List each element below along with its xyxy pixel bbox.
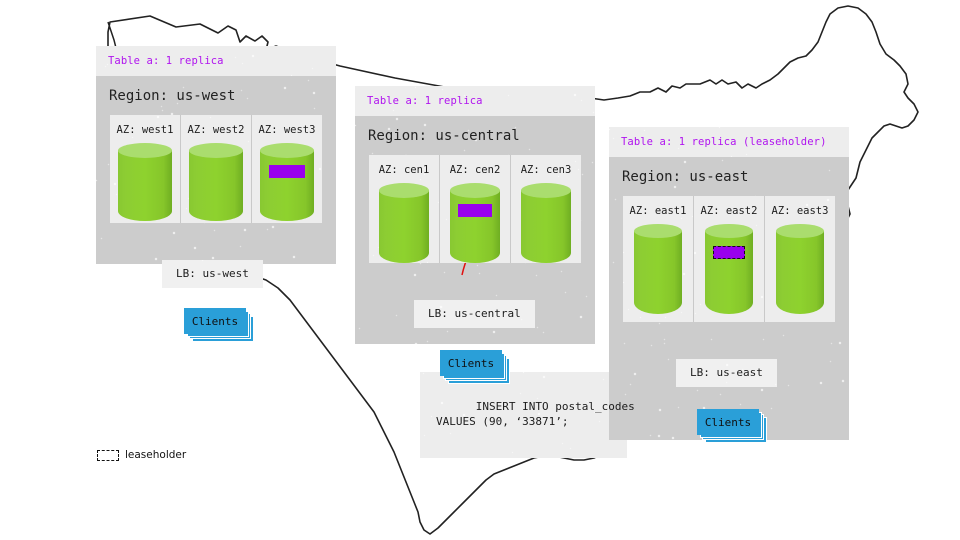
range-replica-west3[interactable] <box>269 165 305 178</box>
az-row-us-east: AZ: east1 AZ: east2 AZ: east3 <box>623 196 835 322</box>
table-replica-band-us-west: Table a: 1 replica <box>96 46 336 76</box>
az-label-west1: AZ: west1 <box>110 124 180 136</box>
sql-text: INSERT INTO postal_codes VALUES (90, ‘33… <box>436 400 635 428</box>
clients-button-us-east[interactable]: Clients <box>697 409 759 435</box>
cylinder-body <box>450 190 500 263</box>
clients-label: Clients <box>448 357 494 370</box>
table-replica-band-us-central: Table a: 1 replica <box>355 86 595 116</box>
az-label-west3: AZ: west3 <box>252 124 322 136</box>
cylinder-body <box>118 150 172 221</box>
clients-stack-us-west[interactable]: Clients <box>184 308 246 334</box>
cylinder-body <box>776 231 824 314</box>
az-label-east2: AZ: east2 <box>694 205 764 217</box>
dashed-rect-icon <box>97 450 119 461</box>
az-row-us-west: AZ: west1 AZ: west2 AZ: west3 <box>110 115 322 223</box>
az-cell-west2[interactable]: AZ: west2 <box>180 115 251 223</box>
cylinder-top <box>521 183 571 198</box>
region-title-us-central: Region: us-central <box>355 116 595 155</box>
cylinder-top <box>776 224 824 238</box>
az-cell-west1[interactable]: AZ: west1 <box>110 115 180 223</box>
region-body-us-central: Region: us-central AZ: cen1 AZ: cen2 <box>355 116 595 344</box>
az-cell-cen3[interactable]: AZ: cen3 <box>510 155 581 263</box>
region-panel-us-central: Table a: 1 replica Region: us-central AZ… <box>355 86 595 344</box>
clients-label: Clients <box>192 315 238 328</box>
node-cylinder-cen3[interactable] <box>521 183 571 263</box>
clients-stack-us-east[interactable]: Clients <box>697 409 759 435</box>
table-replica-label: Table a: 1 replica <box>108 55 224 67</box>
region-body-us-east: Region: us-east AZ: east1 AZ: east2 <box>609 157 849 440</box>
table-replica-band-us-east: Table a: 1 replica (leaseholder) <box>609 127 849 157</box>
az-label-east1: AZ: east1 <box>623 205 693 217</box>
node-cylinder-cen1[interactable] <box>379 183 429 263</box>
node-cylinder-east3[interactable] <box>776 224 824 314</box>
cylinder-body <box>521 190 571 263</box>
az-cell-east1[interactable]: AZ: east1 <box>623 196 693 322</box>
clients-label: Clients <box>705 416 751 429</box>
cylinder-body <box>260 150 314 221</box>
range-replica-leaseholder-east2[interactable] <box>713 246 745 259</box>
cylinder-top <box>189 143 243 158</box>
cylinder-top <box>260 143 314 158</box>
cylinder-top <box>379 183 429 198</box>
region-title-us-west: Region: us-west <box>96 76 336 115</box>
region-panel-us-east: Table a: 1 replica (leaseholder) Region:… <box>609 127 849 440</box>
az-label-cen1: AZ: cen1 <box>369 164 439 176</box>
load-balancer-us-east[interactable]: LB: us-east <box>676 359 777 387</box>
load-balancer-us-west[interactable]: LB: us-west <box>162 260 263 288</box>
az-cell-cen2[interactable]: AZ: cen2 <box>439 155 510 263</box>
cylinder-body <box>705 231 753 314</box>
region-title-us-east: Region: us-east <box>609 157 849 196</box>
cylinder-top <box>634 224 682 238</box>
table-replica-label: Table a: 1 replica <box>367 95 483 107</box>
node-cylinder-west3[interactable] <box>260 143 314 221</box>
lb-label: LB: us-east <box>690 366 763 379</box>
az-label-east3: AZ: east3 <box>765 205 835 217</box>
cylinder-body <box>634 231 682 314</box>
node-cylinder-cen2[interactable] <box>450 183 500 263</box>
region-panel-us-west: Table a: 1 replica Region: us-west AZ: w… <box>96 46 336 264</box>
range-replica-cen2[interactable] <box>458 204 492 217</box>
cylinder-top <box>118 143 172 158</box>
legend-label: leaseholder <box>125 449 186 461</box>
az-cell-cen1[interactable]: AZ: cen1 <box>369 155 439 263</box>
node-cylinder-east1[interactable] <box>634 224 682 314</box>
az-label-cen3: AZ: cen3 <box>511 164 581 176</box>
table-replica-label: Table a: 1 replica (leaseholder) <box>621 136 827 148</box>
load-balancer-us-central[interactable]: LB: us-central <box>414 300 535 328</box>
cylinder-body <box>189 150 243 221</box>
cylinder-top <box>705 224 753 238</box>
az-cell-east2[interactable]: AZ: east2 <box>693 196 764 322</box>
az-cell-east3[interactable]: AZ: east3 <box>764 196 835 322</box>
region-body-us-west: Region: us-west AZ: west1 AZ: west2 <box>96 76 336 264</box>
node-cylinder-west2[interactable] <box>189 143 243 221</box>
clients-button-us-west[interactable]: Clients <box>184 308 246 334</box>
lb-label: LB: us-central <box>428 307 521 320</box>
diagram-canvas: Table a: 1 replica Region: us-west AZ: w… <box>0 0 960 540</box>
clients-stack-us-central[interactable]: Clients <box>440 350 502 376</box>
cylinder-top <box>450 183 500 198</box>
cylinder-body <box>379 190 429 263</box>
lb-label: LB: us-west <box>176 267 249 280</box>
sql-statement-box: INSERT INTO postal_codes VALUES (90, ‘33… <box>420 372 627 458</box>
clients-button-us-central[interactable]: Clients <box>440 350 502 376</box>
node-cylinder-east2[interactable] <box>705 224 753 314</box>
legend: leaseholder <box>97 449 186 461</box>
node-cylinder-west1[interactable] <box>118 143 172 221</box>
az-row-us-central: AZ: cen1 AZ: cen2 AZ: cen3 <box>369 155 581 263</box>
az-cell-west3[interactable]: AZ: west3 <box>251 115 322 223</box>
az-label-west2: AZ: west2 <box>181 124 251 136</box>
az-label-cen2: AZ: cen2 <box>440 164 510 176</box>
